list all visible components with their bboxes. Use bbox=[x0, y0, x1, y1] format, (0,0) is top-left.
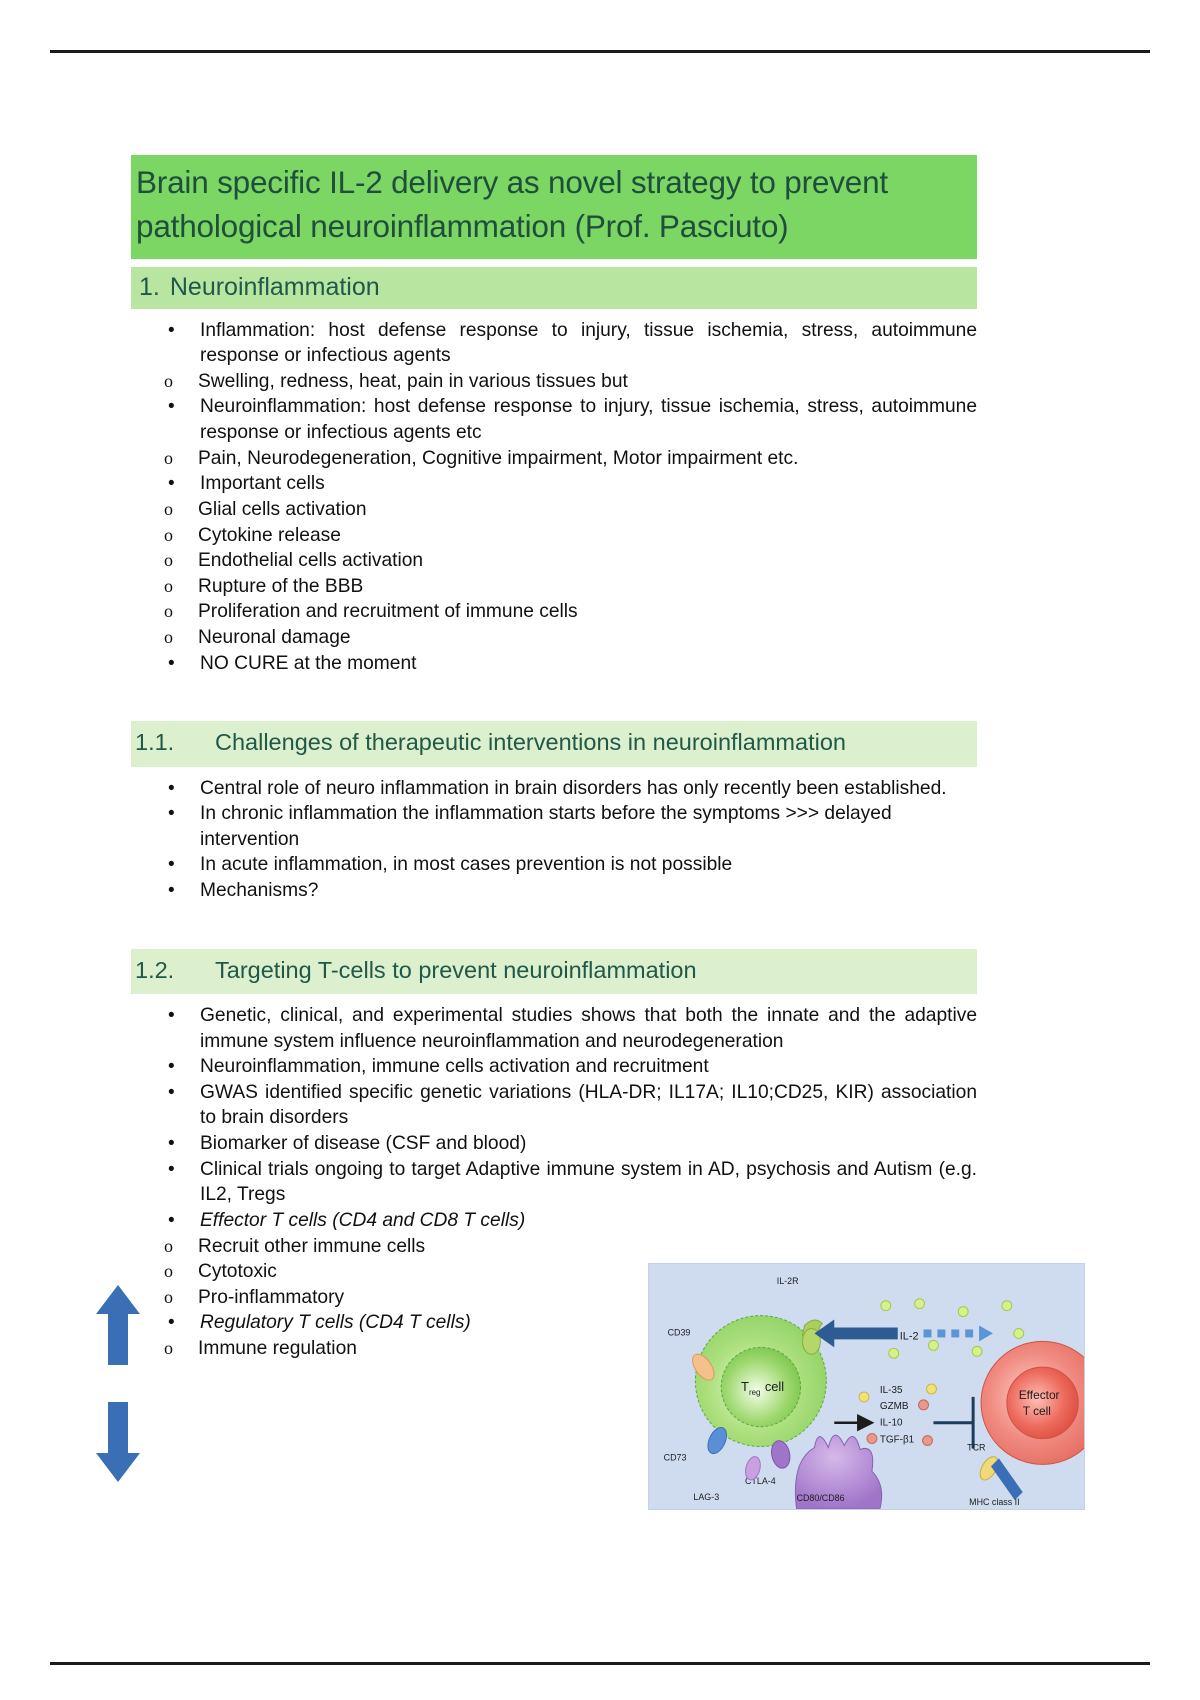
bullet-icon: • bbox=[168, 1208, 175, 1233]
circle-bullet-icon: o bbox=[164, 523, 173, 547]
circle-bullet-icon: o bbox=[164, 625, 173, 649]
list-section-1-1: • Central role of neuro inflammation in … bbox=[131, 776, 977, 904]
treg-effector-figure: T reg cell CD39 CD73 IL-2R CTLA-4 LAG-3 … bbox=[648, 1263, 1085, 1510]
list-section-1: • Inflammation: host defense response to… bbox=[131, 318, 977, 677]
list-item-label: In chronic inflammation the inflammation… bbox=[200, 803, 892, 850]
svg-text:IL-10: IL-10 bbox=[880, 1418, 903, 1429]
list-item: • Inflammation: host defense response to… bbox=[131, 318, 977, 369]
circle-bullet-icon: o bbox=[164, 446, 173, 470]
list-item-label: Cytotoxic bbox=[198, 1261, 277, 1282]
list-item: • Neuroinflammation, immune cells activa… bbox=[131, 1054, 977, 1080]
circle-bullet-icon: o bbox=[164, 1336, 173, 1360]
list-item-label: In acute inflammation, in most cases pre… bbox=[200, 854, 732, 875]
list-item: o Swelling, redness, heat, pain in vario… bbox=[131, 369, 977, 395]
list-item-label: GWAS identified specific genetic variati… bbox=[200, 1082, 977, 1129]
list-item-label: Effector T cells (CD4 and CD8 T cells) bbox=[200, 1210, 525, 1231]
sublist: oGlial cells activation oCytokine releas… bbox=[131, 497, 977, 651]
document-body: Brain specific IL-2 delivery as novel st… bbox=[131, 155, 977, 1362]
circle-bullet-icon: o bbox=[164, 1285, 173, 1309]
list-item-label: Pain, Neurodegeneration, Cognitive impai… bbox=[198, 448, 798, 469]
heading-text: Targeting T-cells to prevent neuroinflam… bbox=[215, 955, 971, 986]
bullet-icon: • bbox=[168, 1054, 175, 1079]
list-item: • Clinical trials ongoing to target Adap… bbox=[131, 1157, 977, 1208]
list-item: oCytokine release bbox=[131, 523, 977, 549]
spacer bbox=[131, 904, 977, 949]
bullet-icon: • bbox=[168, 318, 175, 343]
heading-section-1-2: 1.2. Targeting T-cells to prevent neuroi… bbox=[131, 949, 977, 994]
heading-section-1-1: 1.1. Challenges of therapeutic intervent… bbox=[131, 721, 977, 766]
list-item-label: Swelling, redness, heat, pain in various… bbox=[198, 371, 628, 392]
list-item-label: Inflammation: host defense response to i… bbox=[200, 320, 977, 367]
list-item: o Pain, Neurodegeneration, Cognitive imp… bbox=[131, 446, 977, 472]
circle-bullet-icon: o bbox=[164, 1259, 173, 1283]
svg-text:CD73: CD73 bbox=[664, 1452, 687, 1462]
list-item-label: Pro-inflammatory bbox=[198, 1287, 344, 1308]
circle-bullet-icon: o bbox=[164, 574, 173, 598]
list-item-label: Endothelial cells activation bbox=[198, 550, 423, 571]
list-item-label: Biomarker of disease (CSF and blood) bbox=[200, 1133, 526, 1154]
bullet-icon: • bbox=[168, 1131, 175, 1156]
list-item: oGlial cells activation bbox=[131, 497, 977, 523]
list-item-label: Regulatory T cells (CD4 T cells) bbox=[200, 1312, 471, 1333]
svg-text:CD80/CD86: CD80/CD86 bbox=[797, 1493, 845, 1503]
svg-text:TCR: TCR bbox=[967, 1442, 986, 1452]
bullet-icon: • bbox=[168, 776, 175, 801]
list-item-label: Glial cells activation bbox=[198, 499, 367, 520]
bullet-icon: • bbox=[168, 394, 175, 419]
list-item: • Biomarker of disease (CSF and blood) bbox=[131, 1131, 977, 1157]
bullet-icon: • bbox=[168, 1310, 175, 1335]
list-item: • Central role of neuro inflammation in … bbox=[131, 776, 977, 802]
list-item: oEndothelial cells activation bbox=[131, 548, 977, 574]
list-item: oRupture of the BBB bbox=[131, 574, 977, 600]
list-item-label: Neuroinflammation, immune cells activati… bbox=[200, 1056, 709, 1077]
heading-number: 1.1. bbox=[135, 727, 201, 758]
bullet-icon: • bbox=[168, 1080, 175, 1105]
bullet-icon: • bbox=[168, 852, 175, 877]
list-item-label: Immune regulation bbox=[198, 1338, 357, 1359]
bullet-icon: • bbox=[168, 1003, 175, 1028]
list-item: oNeuronal damage bbox=[131, 625, 977, 651]
list-item-label: Cytokine release bbox=[198, 525, 341, 546]
list-item-label: Important cells bbox=[200, 473, 325, 494]
document-title: Brain specific IL-2 delivery as novel st… bbox=[131, 155, 977, 259]
svg-text:TGF-β1: TGF-β1 bbox=[880, 1435, 915, 1446]
list-item-label: Proliferation and recruitment of immune … bbox=[198, 601, 578, 622]
svg-text:IL-35: IL-35 bbox=[880, 1385, 903, 1396]
arrow-down-icon bbox=[95, 1400, 141, 1484]
list-item: • GWAS identified specific genetic varia… bbox=[131, 1080, 977, 1131]
list-item: • Neuroinflammation: host defense respon… bbox=[131, 394, 977, 445]
sublist: o Pain, Neurodegeneration, Cognitive imp… bbox=[131, 446, 977, 472]
list-item: • In chronic inflammation the inflammati… bbox=[131, 801, 977, 852]
circle-bullet-icon: o bbox=[164, 369, 173, 393]
svg-text:T cell: T cell bbox=[1023, 1404, 1051, 1418]
bullet-icon: • bbox=[168, 1157, 175, 1182]
heading-number: 1. bbox=[139, 271, 160, 303]
svg-text:IL-2R: IL-2R bbox=[777, 1276, 799, 1286]
circle-bullet-icon: o bbox=[164, 548, 173, 572]
svg-text:MHC class II: MHC class II bbox=[969, 1497, 1019, 1507]
spacer bbox=[131, 676, 977, 721]
list-item-label: Recruit other immune cells bbox=[198, 1236, 425, 1257]
svg-text:IL-2: IL-2 bbox=[900, 1330, 919, 1342]
bullet-icon: • bbox=[168, 801, 175, 826]
list-item-label: Mechanisms? bbox=[200, 880, 318, 901]
bullet-icon: • bbox=[168, 471, 175, 496]
bullet-icon: • bbox=[168, 651, 175, 676]
list-item-label: Central role of neuro inflammation in br… bbox=[200, 778, 947, 799]
list-item: • Mechanisms? bbox=[131, 878, 977, 904]
footer-rule bbox=[50, 1662, 1150, 1665]
list-item: • NO CURE at the moment bbox=[131, 651, 977, 677]
svg-text:CD39: CD39 bbox=[668, 1327, 691, 1337]
heading-text: Challenges of therapeutic interventions … bbox=[215, 727, 971, 758]
heading-section-1: 1. Neuroinflammation bbox=[131, 267, 977, 309]
list-item-label: Genetic, clinical, and experimental stud… bbox=[200, 1005, 977, 1052]
list-item: • Important cells bbox=[131, 471, 977, 497]
svg-text:LAG-3: LAG-3 bbox=[693, 1492, 719, 1502]
svg-text:cell: cell bbox=[765, 1379, 784, 1394]
svg-text:Effector: Effector bbox=[1019, 1388, 1060, 1402]
list-item: • Effector T cells (CD4 and CD8 T cells) bbox=[131, 1208, 977, 1234]
circle-bullet-icon: o bbox=[164, 497, 173, 521]
heading-text: Neuroinflammation bbox=[170, 271, 380, 303]
list-item-label: Rupture of the BBB bbox=[198, 576, 363, 597]
arrow-up-icon bbox=[95, 1283, 141, 1367]
list-item-label: Clinical trials ongoing to target Adapti… bbox=[200, 1159, 977, 1206]
heading-number: 1.2. bbox=[135, 955, 201, 986]
sublist: o Swelling, redness, heat, pain in vario… bbox=[131, 369, 977, 395]
header-rule bbox=[50, 50, 1150, 53]
list-item-label: Neuronal damage bbox=[198, 627, 351, 648]
list-item: oRecruit other immune cells bbox=[131, 1234, 977, 1260]
circle-bullet-icon: o bbox=[164, 599, 173, 623]
list-item: oProliferation and recruitment of immune… bbox=[131, 599, 977, 625]
svg-text:T: T bbox=[741, 1379, 749, 1394]
list-item: • In acute inflammation, in most cases p… bbox=[131, 852, 977, 878]
circle-bullet-icon: o bbox=[164, 1234, 173, 1258]
list-item-label: Neuroinflammation: host defense response… bbox=[200, 396, 977, 443]
list-item: • Genetic, clinical, and experimental st… bbox=[131, 1003, 977, 1054]
bullet-icon: • bbox=[168, 878, 175, 903]
list-item-label: NO CURE at the moment bbox=[200, 653, 416, 674]
svg-text:reg: reg bbox=[749, 1388, 760, 1397]
svg-text:GZMB: GZMB bbox=[880, 1401, 909, 1412]
